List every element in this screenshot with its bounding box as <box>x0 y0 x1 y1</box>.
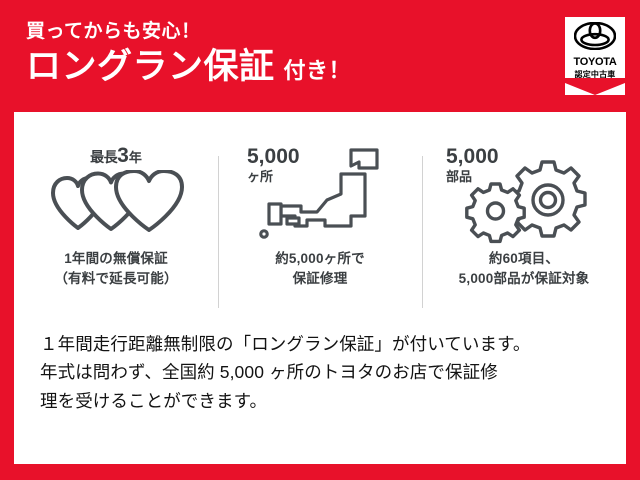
warranty-description-line3: 理を受けることができます。 <box>40 387 606 415</box>
feature-3-caption-line1: 約60項目、 <box>459 249 590 269</box>
header-title-main: ロングラン保証 <box>26 49 275 86</box>
warranty-description-line2: 年式は問わず、全国約 5,000 ヶ所のトヨタのお店で保証修 <box>40 358 606 386</box>
feature-2-caption-line1: 約5,000ヶ所で <box>275 249 365 269</box>
feature-2-figure: 5,000 ヶ所 <box>218 144 422 249</box>
feature-2-caption-line2: 保証修理 <box>275 269 365 289</box>
warranty-description-line1: １年間走行距離無制限の「ロングラン保証」が付いています。 <box>40 330 606 358</box>
feature-1-badge-suffix: 年 <box>129 150 142 165</box>
header-title-suffix: 付き！ <box>284 53 352 85</box>
japan-map-icon <box>255 144 395 249</box>
feature-2-caption: 約5,000ヶ所で 保証修理 <box>275 249 365 288</box>
feature-columns: 最長3年 <box>14 144 626 314</box>
feature-1-caption-line2: （有料で延長可能） <box>54 269 177 289</box>
feature-1-badge: 最長3年 <box>41 144 191 168</box>
header-text-block: 買ってからも安心！ ロングラン保証 付き！ <box>26 20 351 86</box>
feature-3-caption-line2: 5,000部品が保証対象 <box>459 269 590 289</box>
feature-warranty-period: 最長3年 <box>14 144 218 314</box>
header-title-row: ロングラン保証 付き！ <box>26 49 351 86</box>
toyota-ellipse-mark-icon <box>574 22 616 55</box>
toyota-certified-logo: TOYOTA 認定中古車 <box>565 17 625 95</box>
feature-3-figure: 5,000 部品 <box>422 144 626 249</box>
feature-1-badge-number: 3 <box>117 144 129 167</box>
feature-1-caption-line1: 1年間の無償保証 <box>54 249 177 269</box>
content-panel: 最長3年 <box>14 112 626 464</box>
feature-covered-parts: 5,000 部品 <box>422 144 626 314</box>
three-hearts-icon <box>49 170 184 237</box>
feature-service-locations: 5,000 ヶ所 <box>218 144 422 314</box>
longrun-warranty-banner: 買ってからも安心！ ロングラン保証 付き！ TOYOTA 認定中古車 <box>0 0 640 480</box>
feature-3-caption: 約60項目、 5,000部品が保証対象 <box>459 249 590 288</box>
logo-red-swoosh <box>565 78 625 95</box>
feature-1-figure: 最長3年 <box>14 144 218 249</box>
feature-1-badge-prefix: 最長 <box>90 149 117 165</box>
banner-header: 買ってからも安心！ ロングラン保証 付き！ TOYOTA 認定中古車 <box>0 0 640 112</box>
warranty-description: １年間走行距離無制限の「ロングラン保証」が付いています。 年式は問わず、全国約 … <box>40 330 606 415</box>
header-tagline: 買ってからも安心！ <box>26 20 351 44</box>
feature-1-caption: 1年間の無償保証 （有料で延長可能） <box>54 249 177 288</box>
toyota-wordmark: TOYOTA <box>573 57 616 68</box>
two-gears-icon <box>464 154 594 249</box>
